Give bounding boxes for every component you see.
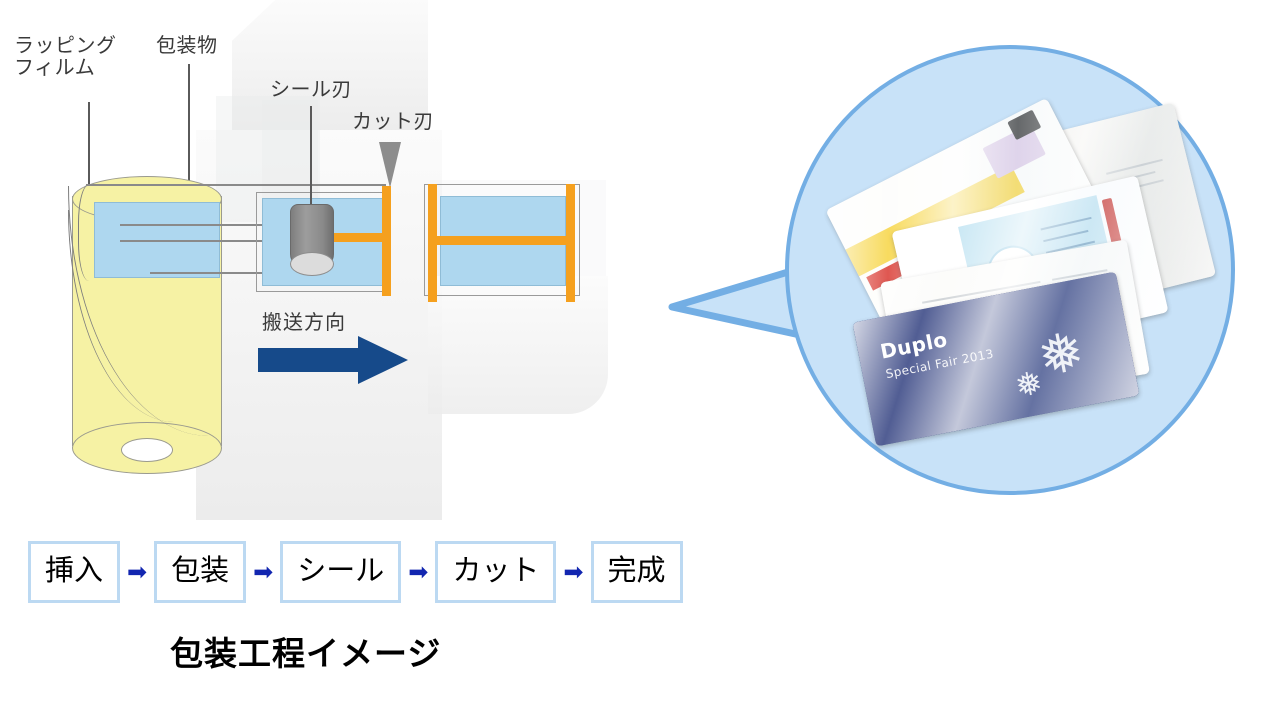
- cut-bar-vertical-stage2: [382, 186, 391, 296]
- product-photo-callout: Duplo Special Fair 2013 ❅ ❅: [660, 40, 1280, 530]
- transport-direction-label: 搬送方向: [262, 306, 346, 335]
- flow-step-seal[interactable]: シール: [280, 541, 401, 603]
- flow-arrow-3-icon: ➡: [408, 560, 428, 584]
- film-web-top: [86, 184, 386, 186]
- flow-step-complete[interactable]: 完成: [591, 541, 683, 603]
- seal-roller-shaft: [310, 150, 312, 212]
- flow-step-wrap[interactable]: 包装: [154, 541, 246, 603]
- film-roll-core-hole: [121, 438, 173, 462]
- diagram-caption: 包装工程イメージ: [170, 627, 441, 675]
- seal-roller-cap: [290, 252, 334, 276]
- flow-step-cut[interactable]: カット: [435, 541, 556, 603]
- callout-label-packaged-item: 包装物: [156, 34, 218, 56]
- process-flow: 挿入 ➡ 包装 ➡ シール ➡ カット ➡ 完成: [28, 541, 683, 603]
- callout-label-seal-blade: シール刃: [270, 78, 352, 100]
- callout-label-cut-blade: カット刃: [352, 110, 434, 132]
- machine-silhouette-right: [428, 276, 608, 414]
- packaging-process-illustration: ラッピング フィルム 包装物 シール刃 カット刃: [0, 0, 660, 520]
- snowflake-icon-small: ❅: [1013, 366, 1045, 403]
- flow-arrow-4-icon: ➡: [563, 560, 583, 584]
- flow-arrow-1-icon: ➡: [127, 560, 147, 584]
- flow-step-insert[interactable]: 挿入: [28, 541, 120, 603]
- shrink-wrapped-packages-photo: Duplo Special Fair 2013 ❅ ❅: [838, 110, 1208, 440]
- film-web-fold: [78, 184, 105, 281]
- snowflake-icon: ❅: [1034, 324, 1089, 386]
- seal-bar-center-finished: [428, 236, 575, 245]
- cut-blade-icon: [379, 142, 401, 188]
- diagram-canvas: ラッピング フィルム 包装物 シール刃 カット刃: [0, 0, 1283, 702]
- flow-arrow-2-icon: ➡: [253, 560, 273, 584]
- transport-direction-arrow-icon: [258, 336, 408, 384]
- callout-label-wrapping-film: ラッピング フィルム: [14, 34, 117, 79]
